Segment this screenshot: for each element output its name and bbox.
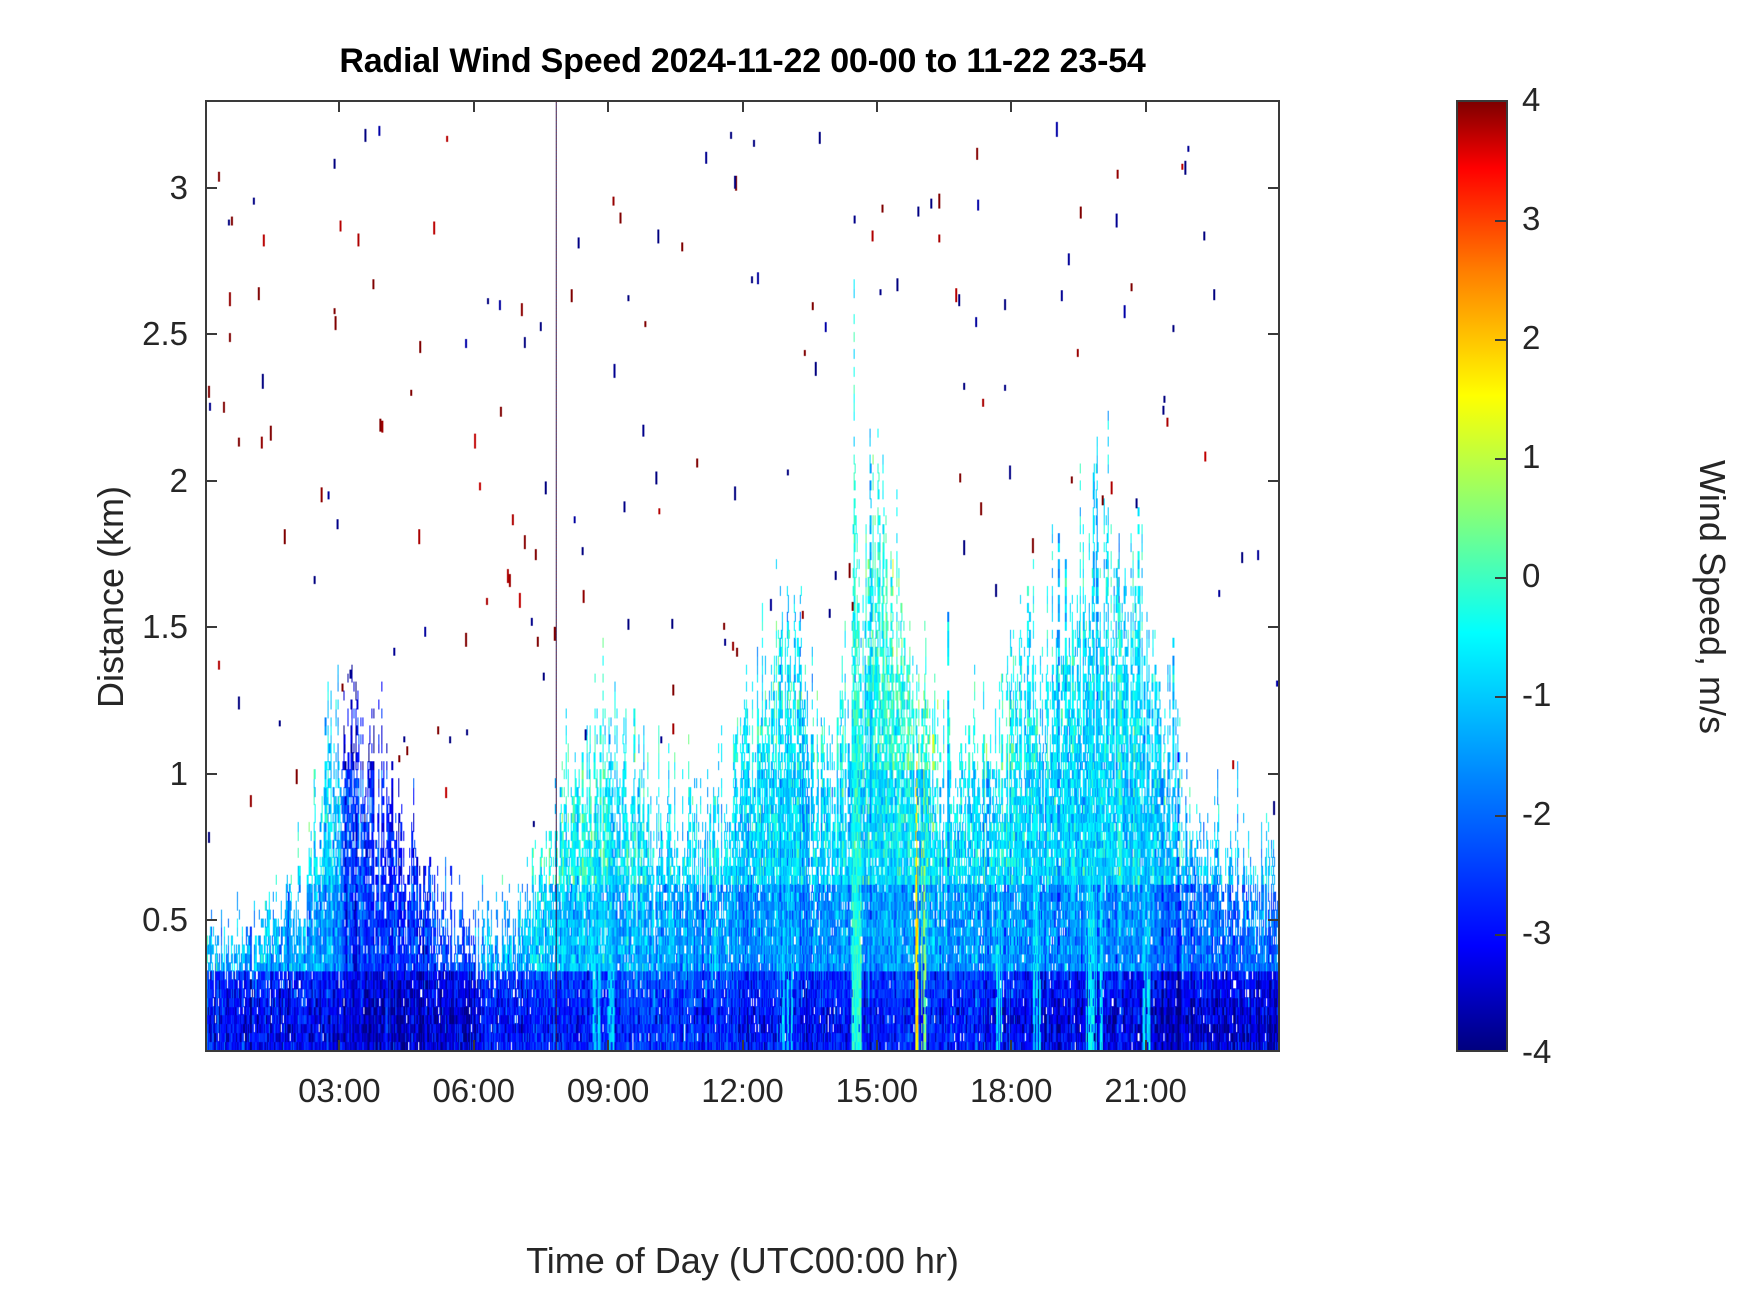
colorbar-tick-label: 1 bbox=[1522, 438, 1540, 476]
colorbar-tick-label: -3 bbox=[1522, 914, 1551, 952]
colorbar-tick-label: 2 bbox=[1522, 319, 1540, 357]
x-tick-mark bbox=[742, 1040, 744, 1052]
y-axis-label: Distance (km) bbox=[90, 287, 132, 907]
colorbar-tick-label: -1 bbox=[1522, 676, 1551, 714]
y-tick-mark bbox=[205, 187, 217, 189]
colorbar-tick-label: 4 bbox=[1522, 81, 1540, 119]
colorbar-tick-mark bbox=[1495, 577, 1506, 579]
x-tick-mark-top bbox=[742, 100, 744, 112]
colorbar-tick-mark bbox=[1495, 220, 1506, 222]
y-tick-label: 1 bbox=[170, 755, 188, 793]
colorbar-tick-label: 0 bbox=[1522, 557, 1540, 595]
x-tick-mark bbox=[338, 1040, 340, 1052]
y-tick-label: 2 bbox=[170, 462, 188, 500]
y-tick-mark-right bbox=[1268, 919, 1280, 921]
colorbar-tick-label: -4 bbox=[1522, 1033, 1551, 1071]
x-tick-mark bbox=[1010, 1040, 1012, 1052]
x-tick-mark-top bbox=[1010, 100, 1012, 112]
colorbar bbox=[1456, 100, 1508, 1052]
colorbar-tick-mark bbox=[1495, 339, 1506, 341]
y-tick-mark bbox=[205, 626, 217, 628]
colorbar-tick-mark bbox=[1495, 696, 1506, 698]
y-tick-label: 1.5 bbox=[142, 608, 188, 646]
x-tick-mark-top bbox=[338, 100, 340, 112]
y-tick-label: 2.5 bbox=[142, 315, 188, 353]
y-tick-label: 3 bbox=[170, 169, 188, 207]
x-tick-mark-top bbox=[1145, 100, 1147, 112]
x-tick-label: 03:00 bbox=[298, 1072, 381, 1110]
colorbar-gradient bbox=[1456, 100, 1508, 1052]
y-tick-label: 0.5 bbox=[142, 901, 188, 939]
page-title: Radial Wind Speed 2024-11-22 00-00 to 11… bbox=[205, 42, 1280, 81]
y-tick-mark-right bbox=[1268, 333, 1280, 335]
x-tick-mark bbox=[607, 1040, 609, 1052]
x-tick-mark-top bbox=[473, 100, 475, 112]
colorbar-label: Wind Speed, m/s bbox=[1691, 287, 1733, 907]
colorbar-tick-mark bbox=[1495, 458, 1506, 460]
x-tick-mark-top bbox=[876, 100, 878, 112]
plot-axes bbox=[205, 100, 1280, 1052]
y-tick-mark-right bbox=[1268, 187, 1280, 189]
x-tick-mark bbox=[473, 1040, 475, 1052]
x-tick-label: 15:00 bbox=[836, 1072, 919, 1110]
y-tick-mark-right bbox=[1268, 773, 1280, 775]
x-tick-mark bbox=[1145, 1040, 1147, 1052]
colorbar-tick-mark bbox=[1495, 815, 1506, 817]
x-tick-mark-top bbox=[607, 100, 609, 112]
colorbar-tick-mark bbox=[1495, 934, 1506, 936]
x-tick-label: 12:00 bbox=[701, 1072, 784, 1110]
x-tick-label: 18:00 bbox=[970, 1072, 1053, 1110]
y-tick-mark-right bbox=[1268, 480, 1280, 482]
y-tick-mark bbox=[205, 773, 217, 775]
y-tick-mark-right bbox=[1268, 626, 1280, 628]
figure-canvas: Radial Wind Speed 2024-11-22 00-00 to 11… bbox=[0, 0, 1750, 1313]
x-tick-label: 09:00 bbox=[567, 1072, 650, 1110]
x-tick-label: 21:00 bbox=[1104, 1072, 1187, 1110]
y-tick-mark bbox=[205, 480, 217, 482]
colorbar-tick-label: 3 bbox=[1522, 200, 1540, 238]
x-axis-label: Time of Day (UTC00:00 hr) bbox=[205, 1240, 1280, 1282]
colorbar-tick-label: -2 bbox=[1522, 795, 1551, 833]
x-tick-mark bbox=[876, 1040, 878, 1052]
heatmap-canvas bbox=[207, 102, 1278, 1050]
y-tick-mark bbox=[205, 333, 217, 335]
y-tick-mark bbox=[205, 919, 217, 921]
x-tick-label: 06:00 bbox=[432, 1072, 515, 1110]
